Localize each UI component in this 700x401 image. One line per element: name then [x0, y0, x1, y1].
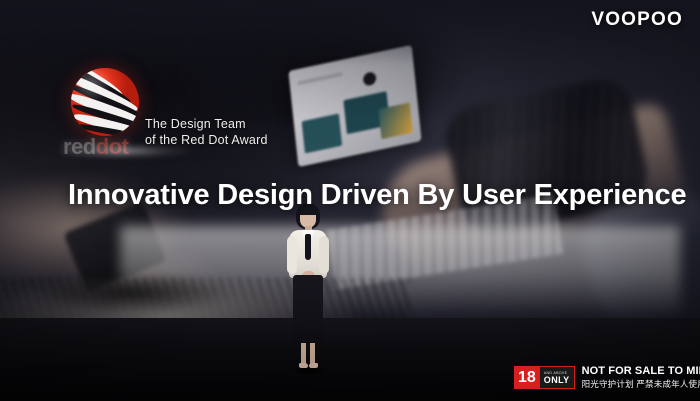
age-badge-only-text: ONLY — [544, 375, 570, 385]
age-warning-chinese: 阳光守护计划 严禁未成年人使用 — [582, 378, 700, 390]
age-badge-number: 18 — [514, 366, 540, 389]
age-badge: 18 AND ABOVE ONLY — [514, 366, 575, 389]
sphere-gloss — [71, 68, 139, 136]
age-warning-bar: 18 AND ABOVE ONLY NOT FOR SALE TO MINORS… — [514, 365, 700, 390]
voopoo-logo: VOOPOO — [591, 9, 683, 31]
award-caption-line-1: The Design Team — [145, 116, 268, 132]
age-badge-only-box: AND ABOVE ONLY — [540, 366, 575, 389]
award-caption-line-2: of the Red Dot Award — [145, 132, 268, 148]
red-dot-sphere-icon — [71, 68, 139, 136]
slide-canvas: reddot The Design Team of the Red Dot Aw… — [0, 0, 700, 401]
red-dot-award-lockup: reddot The Design Team of the Red Dot Aw… — [63, 64, 281, 164]
age-warning-english: NOT FOR SALE TO MINORS — [582, 365, 700, 377]
red-dot-award-caption: The Design Team of the Red Dot Award — [145, 116, 268, 148]
headline-text: Innovative Design Driven By User Experie… — [68, 178, 648, 212]
age-warning-text: NOT FOR SALE TO MINORS 阳光守护计划 严禁未成年人使用 — [582, 365, 700, 390]
